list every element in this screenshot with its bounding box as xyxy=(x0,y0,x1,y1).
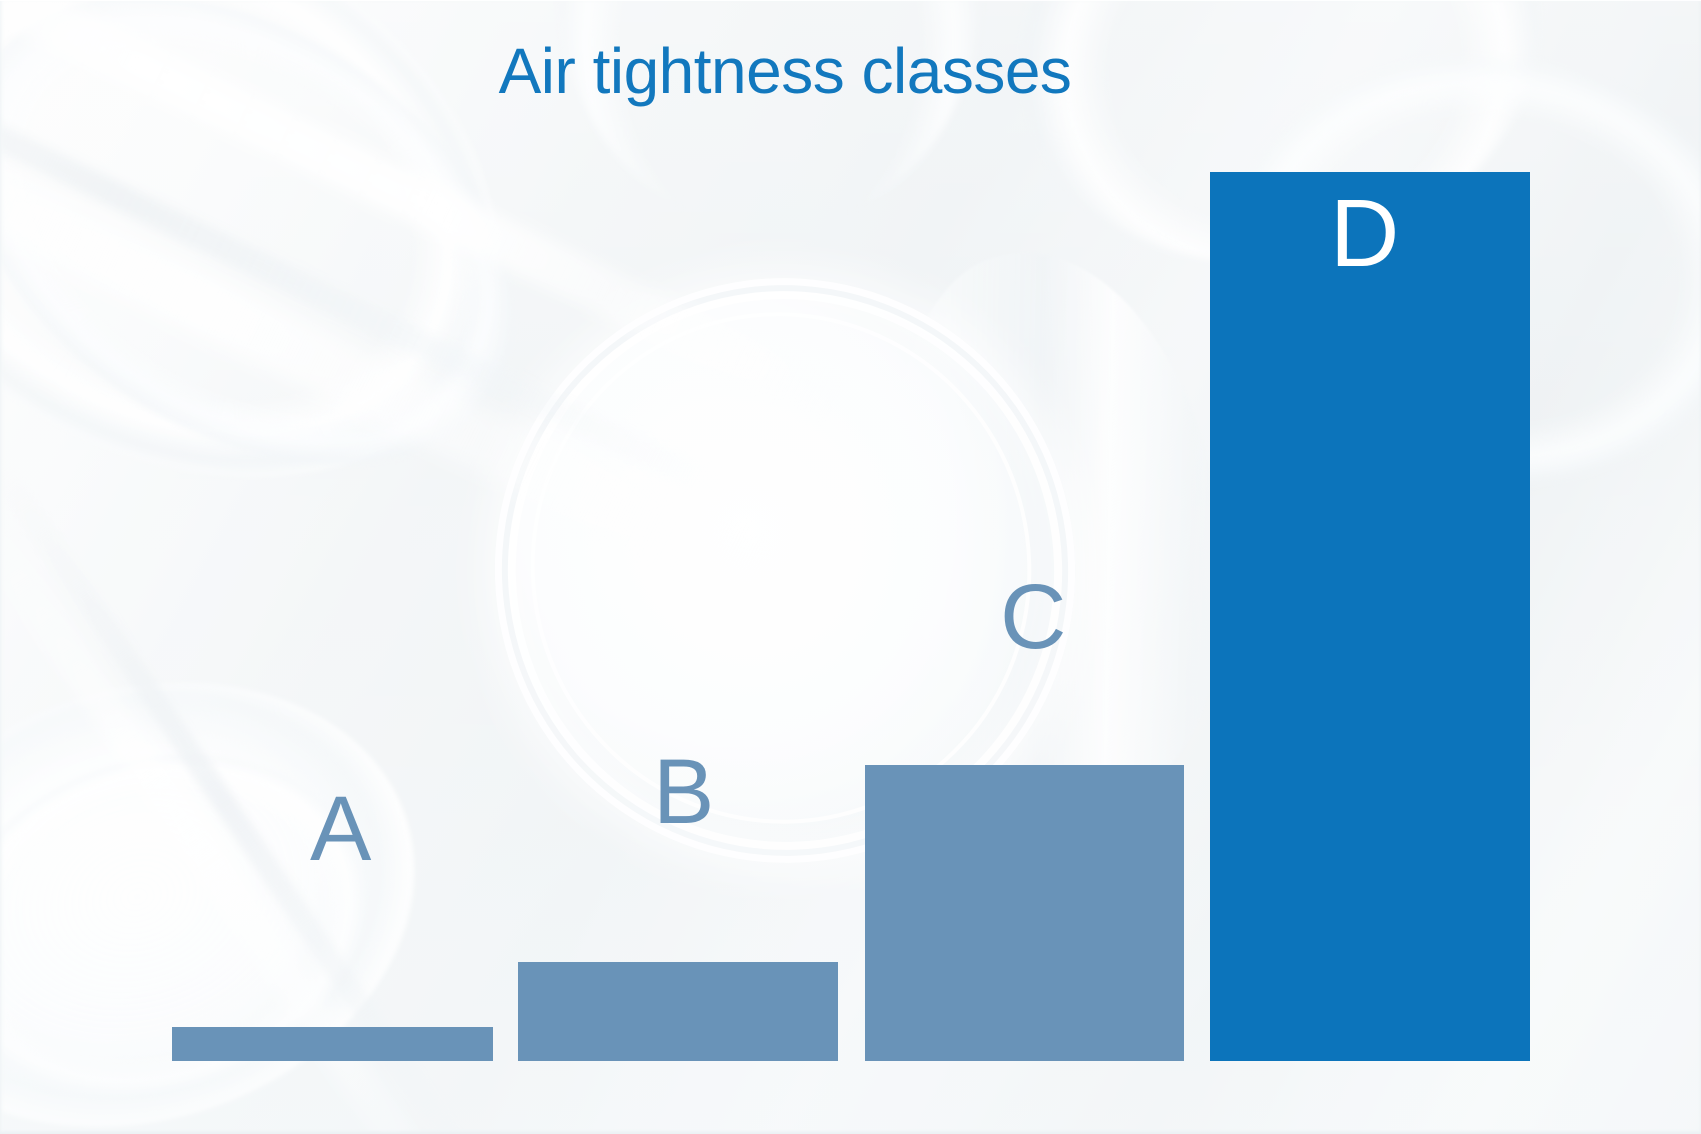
bar-b xyxy=(518,962,838,1061)
bar-d xyxy=(1210,172,1530,1061)
slide-canvas: Air tightness classes ABCD xyxy=(0,0,1701,1134)
bar-chart-plot-area: ABCD xyxy=(0,0,1701,1134)
bar-c xyxy=(865,765,1184,1061)
bar-label-c: C xyxy=(1000,571,1066,663)
bar-label-d: D xyxy=(1330,186,1399,282)
bar-label-a: A xyxy=(310,783,371,875)
bar-a xyxy=(172,1027,493,1061)
bar-label-b: B xyxy=(653,746,714,838)
